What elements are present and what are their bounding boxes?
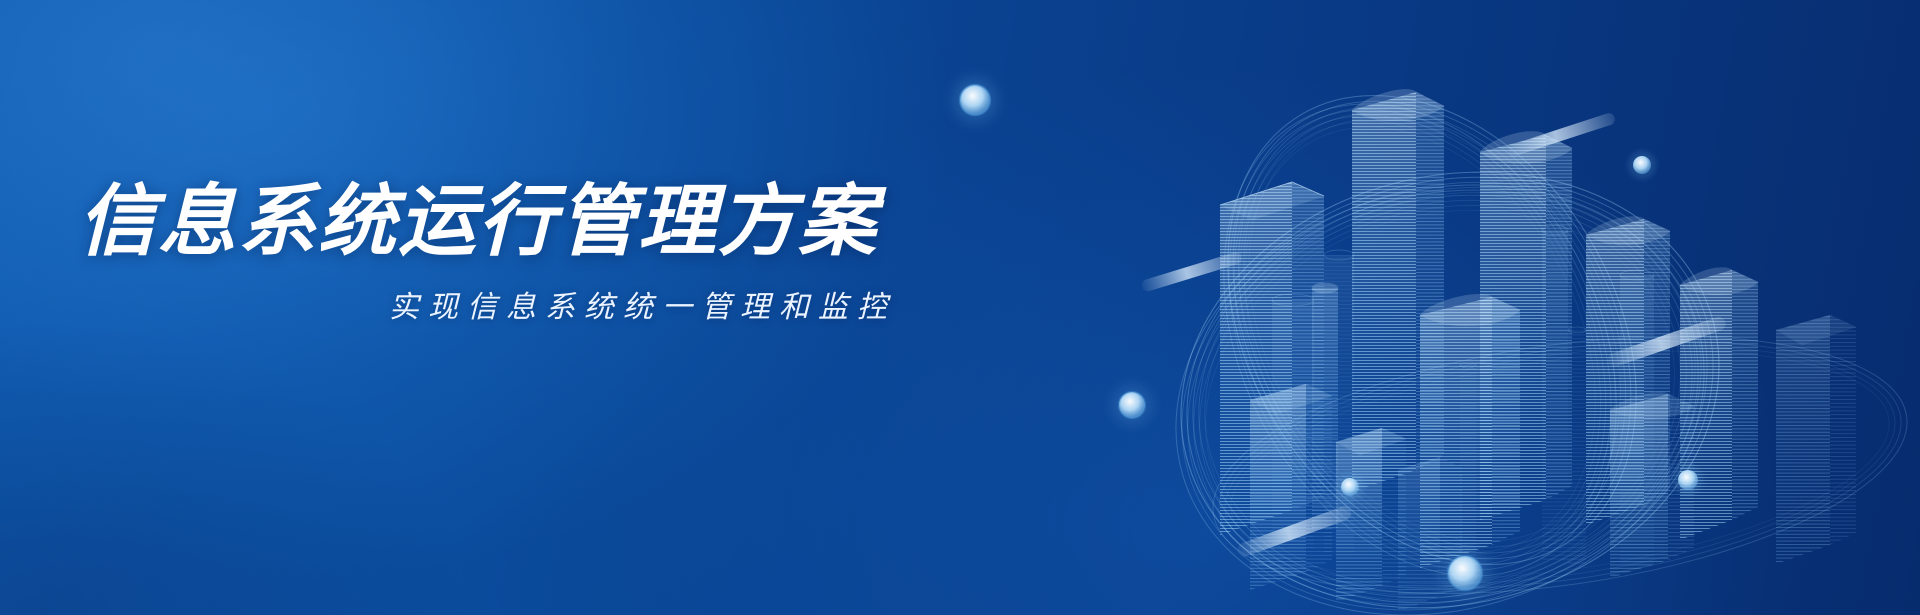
glow-dot bbox=[953, 78, 997, 122]
glow-dot bbox=[1112, 385, 1152, 425]
banner-text-block: 信息系统运行管理方案 实现信息系统统一管理和监控 bbox=[78, 182, 908, 326]
wireframe-city-illustration bbox=[920, 0, 1920, 615]
glow-dot bbox=[1628, 151, 1656, 179]
glow-dot bbox=[1673, 465, 1703, 495]
hero-banner: 信息系统运行管理方案 实现信息系统统一管理和监控 bbox=[0, 0, 1920, 615]
glow-dot bbox=[1336, 473, 1364, 501]
tower bbox=[1460, 362, 1476, 575]
glow-dot bbox=[1440, 548, 1490, 598]
tower bbox=[1568, 327, 1586, 565]
tower bbox=[1776, 315, 1856, 564]
banner-title: 信息系统运行管理方案 bbox=[78, 182, 908, 260]
banner-subtitle: 实现信息系统统一管理和监控 bbox=[78, 282, 908, 326]
